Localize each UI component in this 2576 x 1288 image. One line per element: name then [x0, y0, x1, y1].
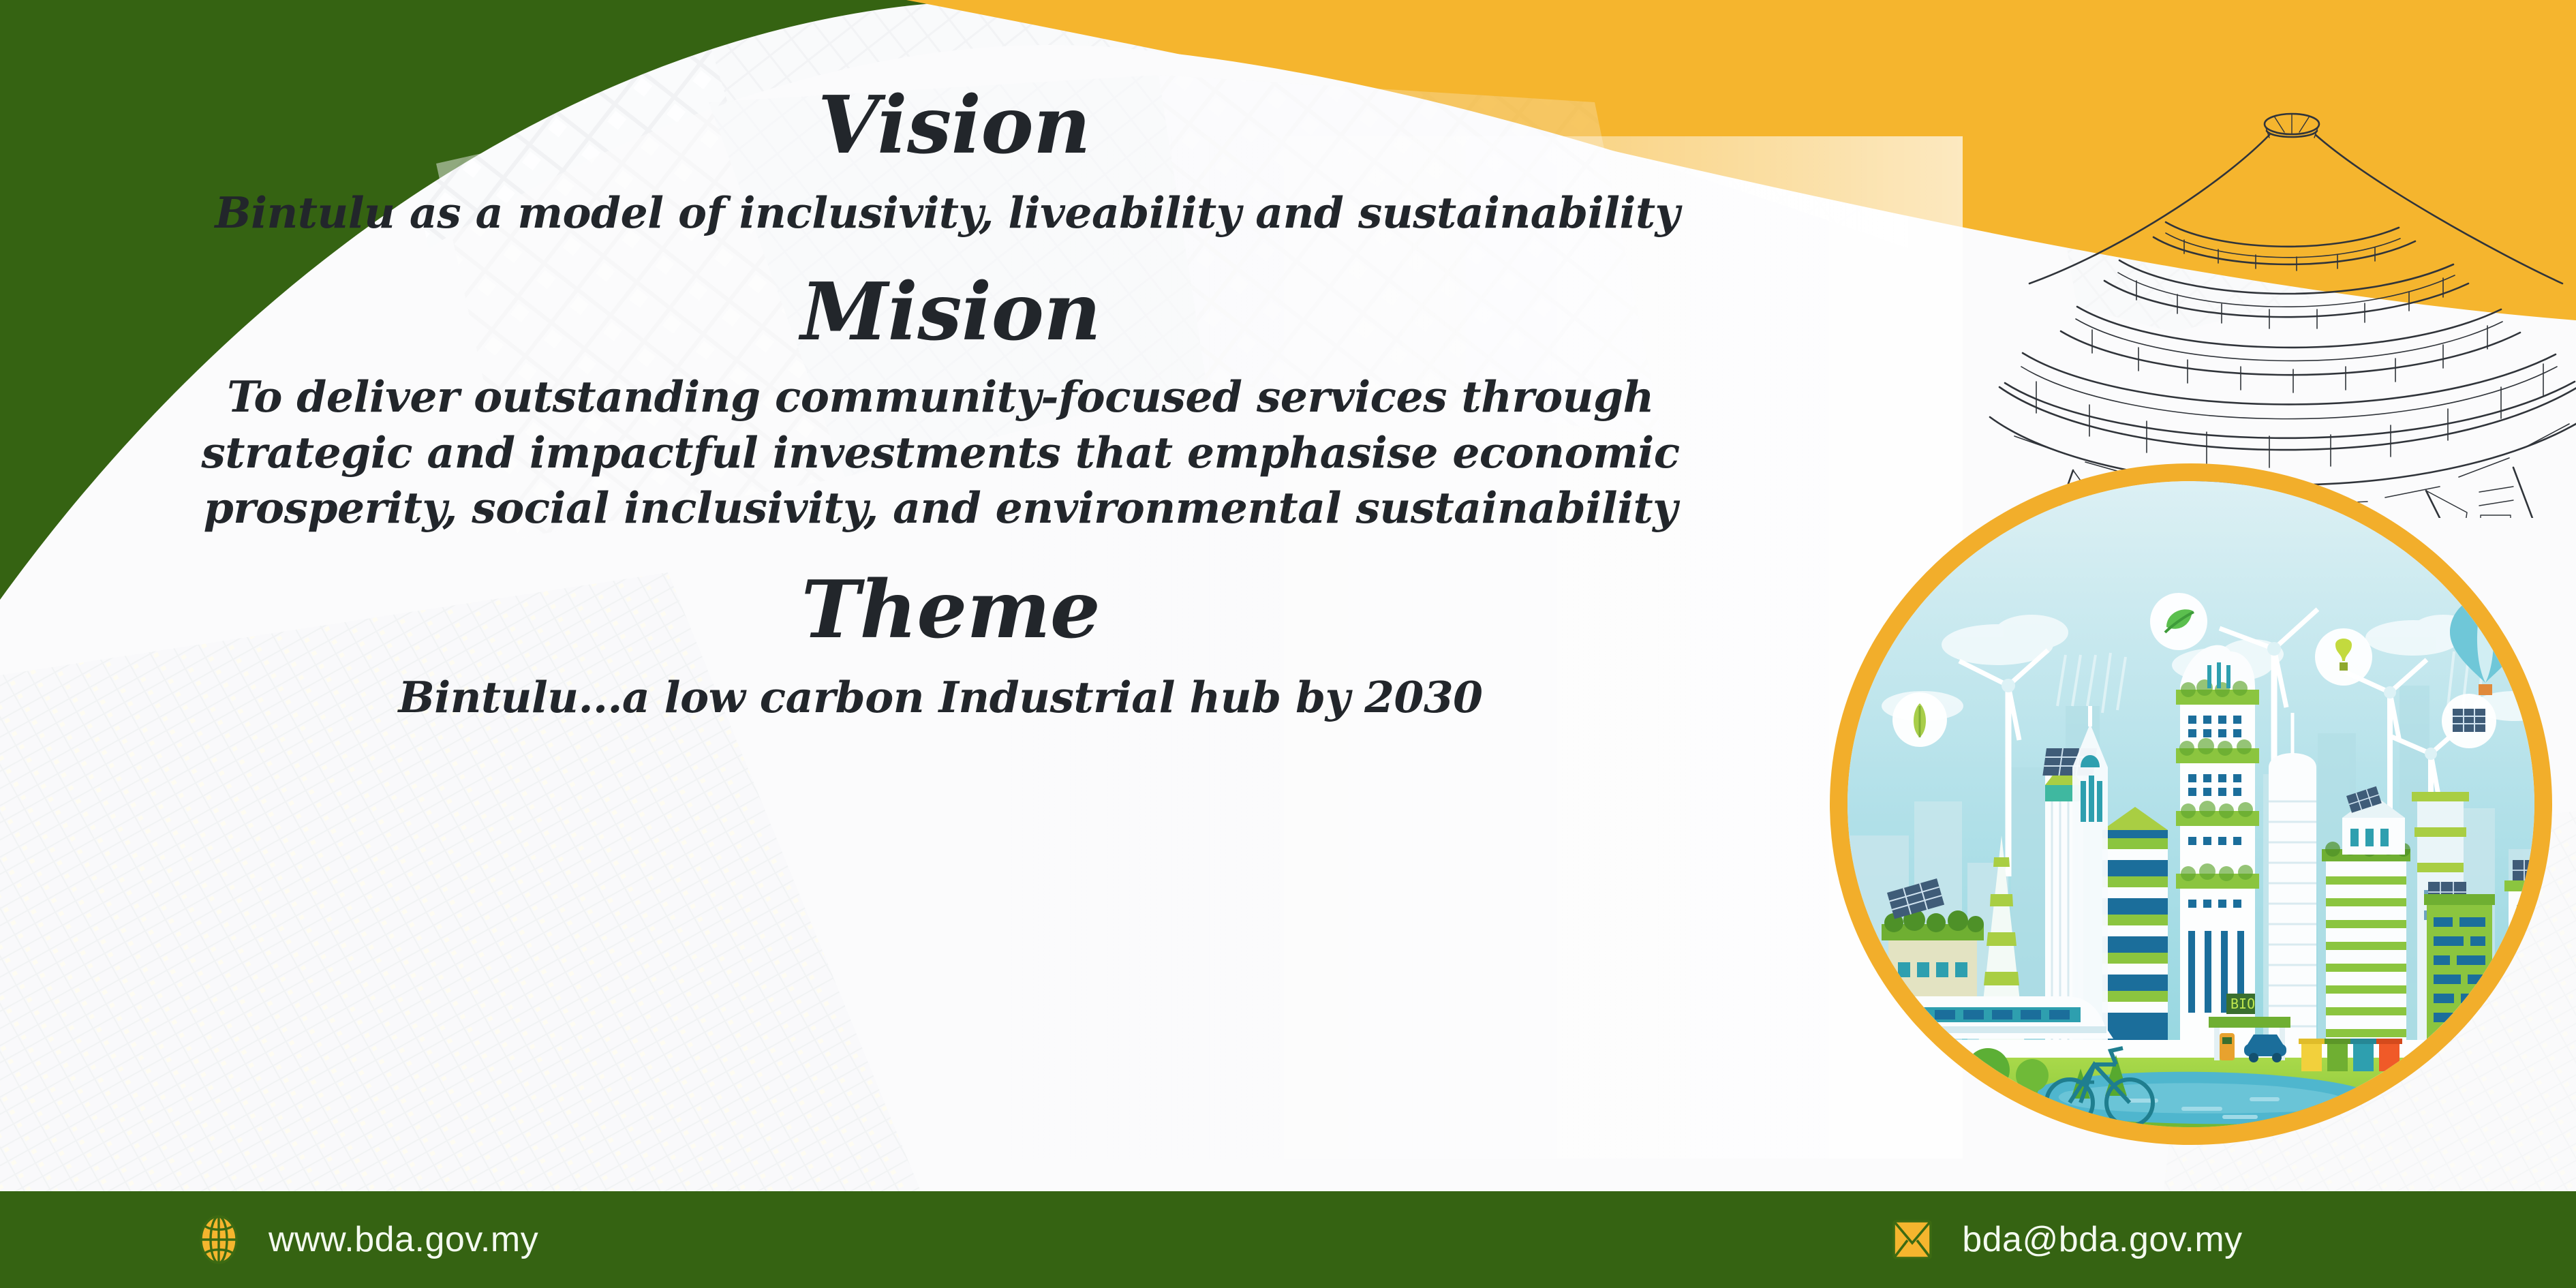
mission-line-3: prosperity, social inclusivity, and envi…	[0, 480, 1881, 536]
mission-line-2: strategic and impactful investments that…	[0, 425, 1881, 481]
green-city-illustration: BIO	[1847, 481, 2534, 1127]
footer-bar: www.bda.gov.my bda@bda.gov.my	[0, 1191, 2576, 1288]
svg-text:BIO: BIO	[2230, 996, 2255, 1012]
vision-section: Vision Bintulu as a model of inclusivity…	[0, 82, 1881, 241]
train	[1847, 996, 2113, 1039]
medallion-image-clip: BIO	[1847, 481, 2534, 1127]
statements-block: Vision Bintulu as a model of inclusivity…	[0, 82, 1881, 730]
theme-statement: Bintulu...a low carbon Industrial hub by…	[0, 670, 1881, 726]
envelope-icon	[1891, 1214, 1933, 1265]
theme-heading: Theme	[20, 566, 1881, 655]
vision-statement: Bintulu as a model of inclusivity, livea…	[14, 185, 1881, 241]
eco-city-medallion: BIO	[1830, 463, 2552, 1145]
poster-canvas: Vision Bintulu as a model of inclusivity…	[0, 0, 2576, 1288]
mission-statement: To deliver outstanding community-focused…	[0, 369, 1881, 537]
website-label: www.bda.gov.my	[269, 1219, 538, 1260]
globe-icon	[198, 1214, 240, 1265]
email-label: bda@bda.gov.my	[1962, 1219, 2243, 1260]
blue-planted-tower	[2102, 807, 2168, 1081]
vision-heading: Vision	[27, 82, 1881, 170]
mission-section: Mision To deliver outstanding community-…	[0, 269, 1881, 537]
mission-heading: Mision	[20, 269, 1881, 357]
website-contact[interactable]: www.bda.gov.my	[198, 1214, 538, 1265]
mission-line-1: To deliver outstanding community-focused…	[0, 369, 1881, 425]
email-contact[interactable]: bda@bda.gov.my	[1891, 1214, 2243, 1265]
theme-section: Theme Bintulu...a low carbon Industrial …	[0, 566, 1881, 726]
central-skyscraper	[2176, 645, 2259, 1081]
conical-building-illustration	[1949, 82, 2576, 518]
